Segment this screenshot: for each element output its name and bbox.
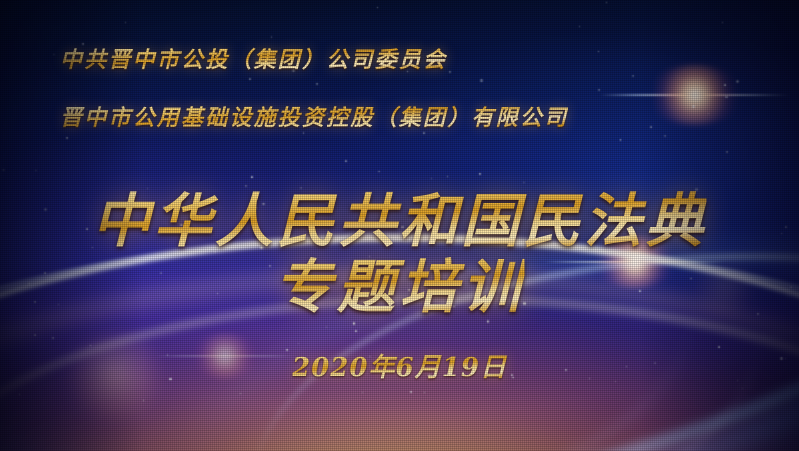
star-speckle: [355, 330, 357, 332]
star-speckle: [726, 151, 728, 153]
star-speckle: [785, 358, 786, 359]
star-speckle: [44, 208, 47, 211]
star-speckle: [34, 334, 36, 336]
star-speckle: [725, 96, 728, 99]
star-speckle: [271, 36, 273, 38]
star-speckle: [410, 391, 412, 393]
star-speckle: [639, 290, 641, 292]
star-speckle: [650, 126, 652, 128]
star-speckle: [579, 26, 580, 27]
lens-flare-top-right: [600, 50, 790, 140]
star-speckle: [708, 113, 709, 114]
star-speckle: [377, 7, 379, 9]
star-speckle: [737, 380, 738, 381]
star-speckle: [664, 135, 666, 137]
star-speckle: [2, 169, 4, 171]
flare-streak: [545, 261, 725, 263]
star-speckle: [362, 392, 363, 393]
event-date: 2020年6月19日: [292, 347, 507, 384]
star-speckle: [742, 388, 743, 389]
organization-line-2: 晋中市公用基础设施投资控股（集团）有限公司: [60, 100, 568, 132]
star-speckle: [632, 75, 634, 77]
star-speckle: [44, 272, 47, 275]
organization-line-1: 中共晋中市公投（集团）公司委员会: [60, 42, 447, 74]
star-speckle: [757, 313, 759, 315]
flare-streak: [600, 94, 790, 96]
flare-core: [647, 65, 743, 125]
star-speckle: [480, 79, 483, 82]
star-speckle: [598, 51, 599, 52]
star-speckle: [785, 226, 787, 228]
star-speckle: [724, 84, 726, 86]
star-speckle: [780, 357, 783, 360]
lens-flare-lower-left: [150, 321, 300, 391]
star-speckle: [108, 264, 109, 265]
star-speckle: [34, 301, 36, 303]
star-speckle: [167, 354, 168, 355]
star-speckle: [378, 171, 380, 173]
star-speckle: [298, 343, 299, 344]
star-speckle: [28, 282, 30, 284]
star-speckle: [512, 377, 514, 379]
star-speckle: [722, 22, 723, 23]
star-speckle: [125, 22, 126, 23]
star-speckle: [169, 378, 171, 380]
star-speckle: [790, 286, 792, 288]
star-speckle: [565, 369, 567, 371]
star-speckle: [52, 337, 54, 339]
star-speckle: [654, 362, 656, 364]
star-speckle: [782, 233, 783, 234]
star-speckle: [598, 89, 600, 91]
star-speckle: [511, 374, 513, 376]
star-speckle: [90, 345, 91, 346]
star-speckle: [736, 80, 739, 83]
star-speckle: [53, 54, 55, 56]
star-speckle: [286, 349, 288, 351]
star-speckle: [143, 400, 144, 401]
star-speckle: [449, 71, 451, 73]
star-speckle: [423, 132, 425, 134]
star-speckle: [692, 105, 695, 108]
star-speckle: [345, 160, 347, 162]
star-speckle: [589, 378, 590, 379]
warm-orb-left: [60, 330, 170, 420]
star-speckle: [424, 392, 425, 393]
star-speckle: [615, 381, 616, 382]
star-speckle: [19, 394, 20, 395]
star-speckle: [303, 132, 304, 133]
flare-streak: [155, 355, 295, 357]
star-speckle: [240, 393, 241, 394]
star-speckle: [718, 346, 720, 348]
star-speckle: [86, 228, 88, 230]
star-speckle: [606, 2, 607, 3]
flare-core: [190, 333, 260, 379]
star-speckle: [35, 170, 37, 172]
star-speckle: [326, 326, 327, 327]
star-speckle: [58, 304, 59, 305]
star-speckle: [626, 366, 627, 367]
star-speckle: [690, 278, 692, 280]
star-speckle: [217, 293, 218, 294]
star-speckle: [269, 265, 271, 267]
star-speckle: [781, 233, 782, 234]
star-speckle: [66, 137, 68, 139]
star-speckle: [160, 272, 162, 274]
star-speckle: [249, 78, 251, 80]
main-title-line-2: 专题培训: [274, 240, 525, 324]
presentation-slide: 中共晋中市公投（集团）公司委员会 晋中市公用基础设施投资控股（集团）有限公司 中…: [0, 0, 799, 451]
warm-orb-right: [690, 258, 760, 318]
star-speckle: [620, 139, 622, 141]
star-speckle: [316, 83, 318, 85]
